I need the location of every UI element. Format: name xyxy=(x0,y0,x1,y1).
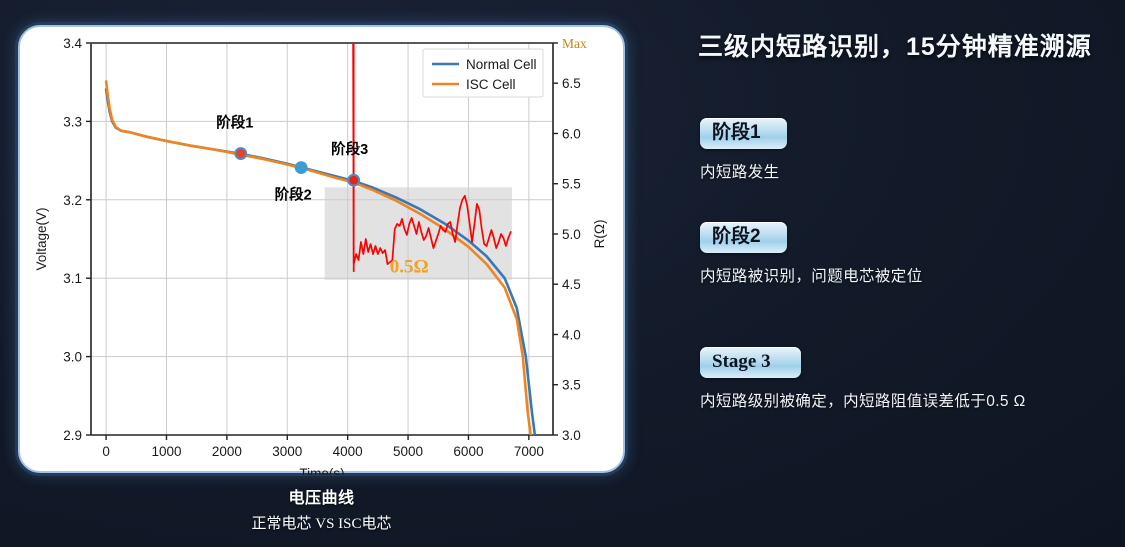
chart-card: 2.93.03.13.23.33.43.03.54.04.55.05.56.06… xyxy=(18,25,625,473)
stage3-marker-label: 阶段3 xyxy=(331,140,368,158)
slide-root: 2.93.03.13.23.33.43.03.54.04.55.05.56.06… xyxy=(0,0,1125,547)
y2-axis-label: R(Ω) xyxy=(592,220,607,249)
caption-line-1: 电压曲线 xyxy=(18,484,625,508)
xtick-label-7: 7000 xyxy=(514,444,544,459)
stage-description-1: 内短路发生 xyxy=(700,160,1120,182)
stage1-marker xyxy=(235,148,246,159)
xtick-label-5: 5000 xyxy=(393,444,423,459)
y2tick-label-5: 5.5 xyxy=(562,177,581,192)
y2tick-label-6: 6.0 xyxy=(562,126,581,141)
caption-line-2: 正常电芯 VS ISC电芯 xyxy=(18,512,625,533)
xtick-label-4: 4000 xyxy=(333,444,363,459)
xtick-label-2: 2000 xyxy=(212,444,242,459)
page-title: 三级内短路识别，15分钟精准溯源 xyxy=(698,27,1118,63)
y2tick-label-8: Max xyxy=(562,36,587,51)
y2tick-label-2: 4.0 xyxy=(562,327,581,342)
y2tick-label-0: 3.0 xyxy=(562,428,581,443)
stage-description-2: 内短路被识别，问题电芯被定位 xyxy=(700,264,1120,286)
ytick-label-4: 3.3 xyxy=(63,114,82,129)
ytick-label-2: 3.1 xyxy=(63,271,82,286)
xtick-label-0: 0 xyxy=(102,444,110,459)
stage-block-3: Stage 3 内短路级别被确定，内短路阻值误差低于0.5 Ω xyxy=(700,347,1120,411)
y2tick-label-3: 4.5 xyxy=(562,277,581,292)
xtick-label-3: 3000 xyxy=(272,444,302,459)
voltage-resistance-chart: 2.93.03.13.23.33.43.03.54.04.55.05.56.06… xyxy=(20,27,627,475)
legend-label-1: ISC Cell xyxy=(466,77,516,92)
xtick-label-1: 1000 xyxy=(151,444,181,459)
status-badge-stage-2: 阶段2 xyxy=(700,222,787,253)
status-badge-stage-1: 阶段1 xyxy=(700,118,787,149)
right-panel: 三级内短路识别，15分钟精准溯源 阶段1 内短路发生 阶段2 内短路被识别，问题… xyxy=(660,0,1125,547)
stage1-marker-label: 阶段1 xyxy=(216,114,253,132)
ytick-label-1: 3.0 xyxy=(63,350,82,365)
stage2-marker xyxy=(296,162,307,173)
stage-description-3: 内短路级别被确定，内短路阻值误差低于0.5 Ω xyxy=(700,389,1120,411)
y-axis-label: Voltage(V) xyxy=(34,207,49,270)
stage-block-2: 阶段2 内短路被识别，问题电芯被定位 xyxy=(700,222,1120,286)
stage3-marker xyxy=(348,175,359,186)
y2tick-label-4: 5.0 xyxy=(562,227,581,242)
chart-caption: 电压曲线 正常电芯 VS ISC电芯 xyxy=(18,484,625,533)
ytick-label-5: 3.4 xyxy=(63,36,82,51)
stage-block-1: 阶段1 内短路发生 xyxy=(700,118,1120,182)
x-axis-label: Time(s) xyxy=(299,466,344,475)
y2tick-label-7: 6.5 xyxy=(562,76,581,91)
xtick-label-6: 6000 xyxy=(453,444,483,459)
y2tick-label-1: 3.5 xyxy=(562,378,581,393)
resistance-value-label: 0.5Ω xyxy=(390,257,429,278)
ytick-label-0: 2.9 xyxy=(63,428,82,443)
stage2-marker-label: 阶段2 xyxy=(275,186,312,204)
legend-label-0: Normal Cell xyxy=(466,57,537,72)
status-badge-stage-3: Stage 3 xyxy=(700,347,801,378)
ytick-label-3: 3.2 xyxy=(63,193,82,208)
